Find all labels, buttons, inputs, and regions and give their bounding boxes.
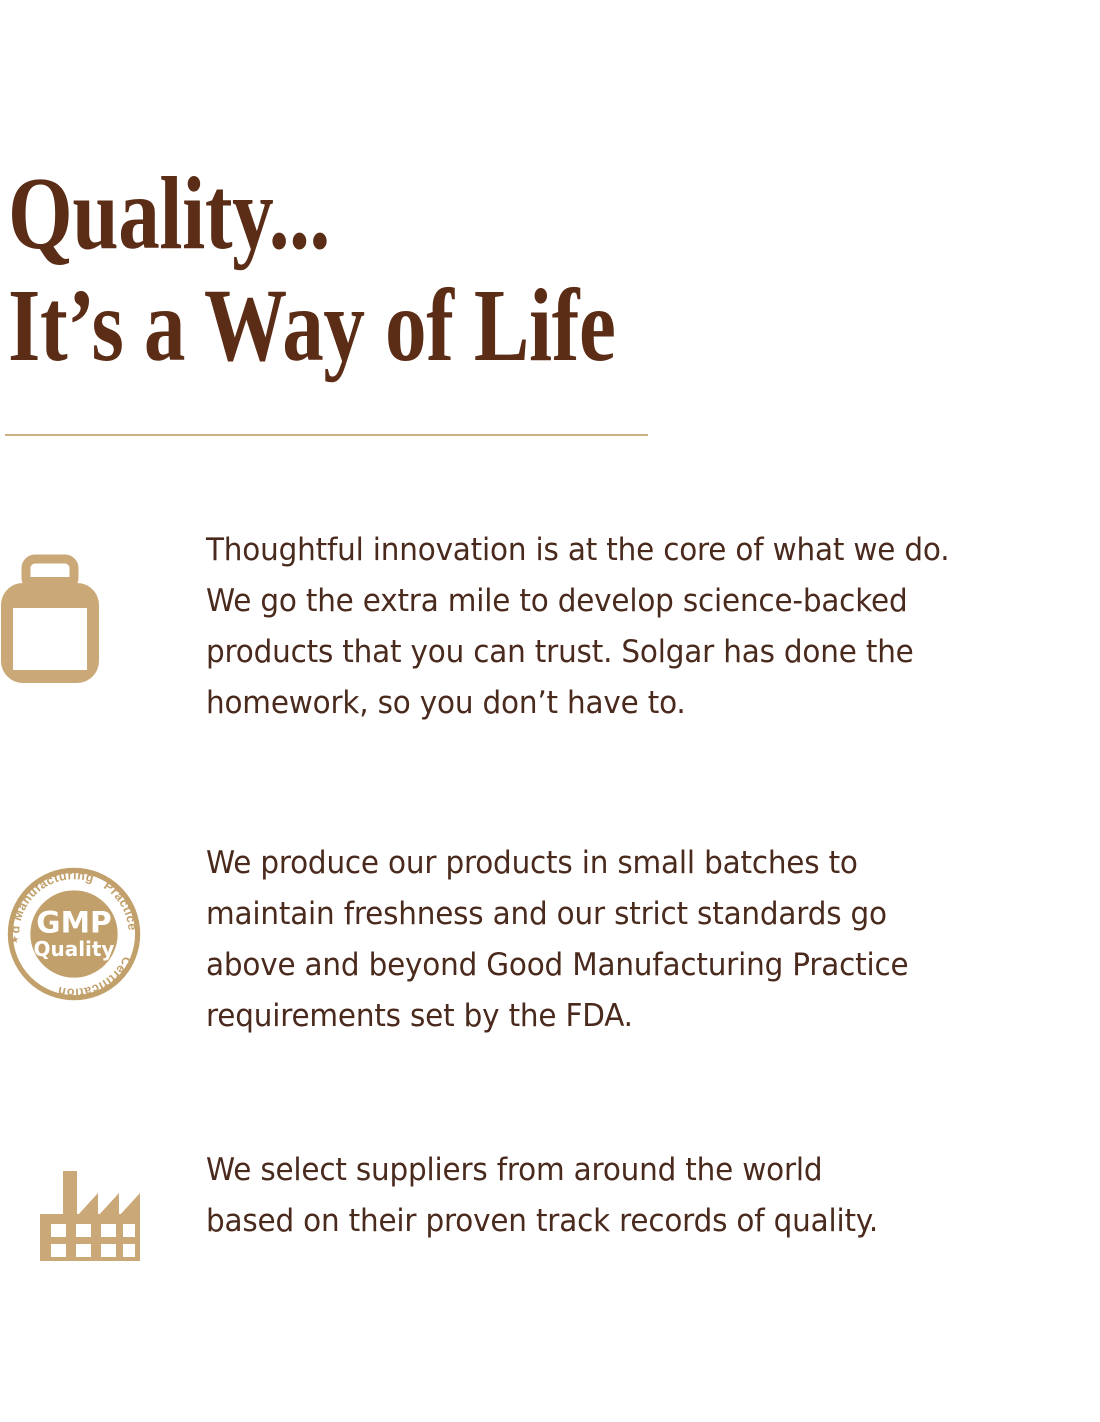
seal-center-quality: Quality [34,937,115,961]
feature-icon-slot [0,543,190,703]
seal-center-gmp: GMP [36,906,111,940]
feature-icon-slot [0,1117,190,1277]
factory-icon [33,1158,140,1261]
page-canvas: Quality... It’s a Way of Life Thoughtful… [0,0,1100,1422]
headline-line-2: It’s a Way of Life [8,272,808,380]
feature-text: Thoughtful innovation is at the core of … [206,525,1029,729]
gmp-quality-seal-icon: Good Manufacturing Practice Certificatio… [0,860,148,1008]
headline-line-1: Quality... [8,160,808,268]
supplement-bottle-icon [0,543,100,683]
feature-text: We produce our products in small batches… [206,838,1029,1042]
page-title: Quality... It’s a Way of Life [8,160,1008,380]
seal-star-icon: ★ [10,934,19,946]
feature-text: We select suppliers from around the worl… [206,1145,1029,1247]
feature-icon-slot: Good Manufacturing Practice Certificatio… [0,860,190,1020]
horizontal-rule [5,434,648,436]
